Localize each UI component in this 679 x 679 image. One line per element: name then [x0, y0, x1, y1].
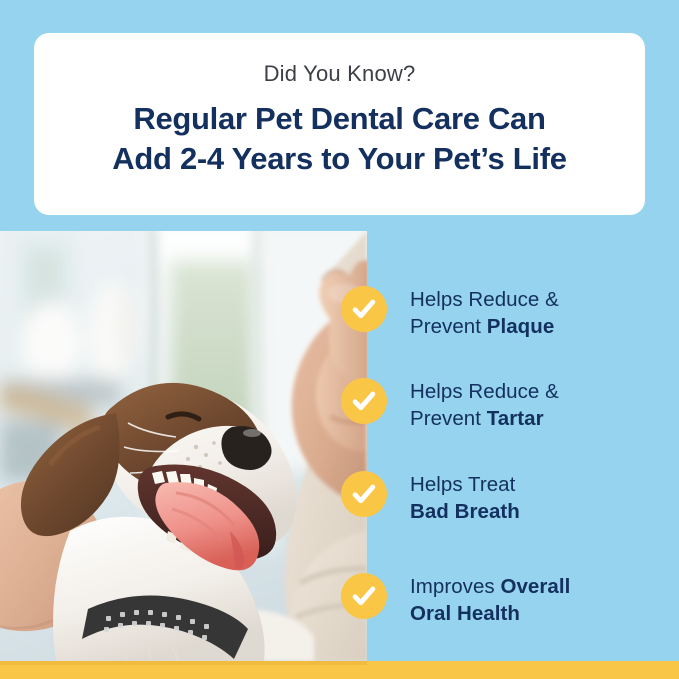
bottom-accent-bar: [0, 661, 679, 679]
benefit-line2-plain: Prevent: [410, 407, 487, 430]
check-icon: [341, 378, 387, 424]
page-title: Regular Pet Dental Care Can Add 2-4 Year…: [112, 99, 566, 178]
benefit-line2-bold: Bad Breath: [410, 500, 520, 523]
benefit-item-bad-breath: Helps Treat Bad Breath: [341, 471, 671, 525]
check-icon: [341, 573, 387, 619]
headline-line-2: Add 2-4 Years to Your Pet’s Life: [112, 139, 566, 179]
benefit-label: Helps Treat Bad Breath: [410, 472, 520, 525]
infographic-root: Did You Know? Regular Pet Dental Care Ca…: [0, 0, 679, 679]
benefit-item-oral-health: Improves Overall Oral Health: [341, 573, 671, 627]
headline-line-1: Regular Pet Dental Care Can: [112, 99, 566, 139]
check-icon: [341, 471, 387, 517]
benefit-label: Helps Reduce & Prevent Tartar: [410, 379, 559, 432]
benefit-line2-bold: Plaque: [487, 315, 555, 338]
benefit-line1: Helps Reduce &: [410, 380, 559, 403]
benefit-line2-bold: Oral Health: [410, 602, 520, 625]
benefit-label: Helps Reduce & Prevent Plaque: [410, 287, 559, 340]
benefit-item-plaque: Helps Reduce & Prevent Plaque: [341, 286, 671, 340]
bottom-accent-bar-shade: [0, 661, 367, 665]
eyebrow-text: Did You Know?: [264, 63, 416, 85]
benefit-line2-bold: Tartar: [487, 407, 544, 430]
header-card: Did You Know? Regular Pet Dental Care Ca…: [34, 33, 645, 215]
benefits-list: Helps Reduce & Prevent Plaque Helps Redu…: [0, 231, 679, 661]
benefit-item-tartar: Helps Reduce & Prevent Tartar: [341, 378, 671, 432]
benefit-line1: Helps Treat: [410, 473, 515, 496]
benefit-line2-plain: Prevent: [410, 315, 487, 338]
benefit-line1-plain: Improves: [410, 575, 500, 598]
benefit-label: Improves Overall Oral Health: [410, 574, 570, 627]
benefit-line1: Helps Reduce &: [410, 288, 559, 311]
benefit-line1-bold: Overall: [500, 575, 570, 598]
check-icon: [341, 286, 387, 332]
